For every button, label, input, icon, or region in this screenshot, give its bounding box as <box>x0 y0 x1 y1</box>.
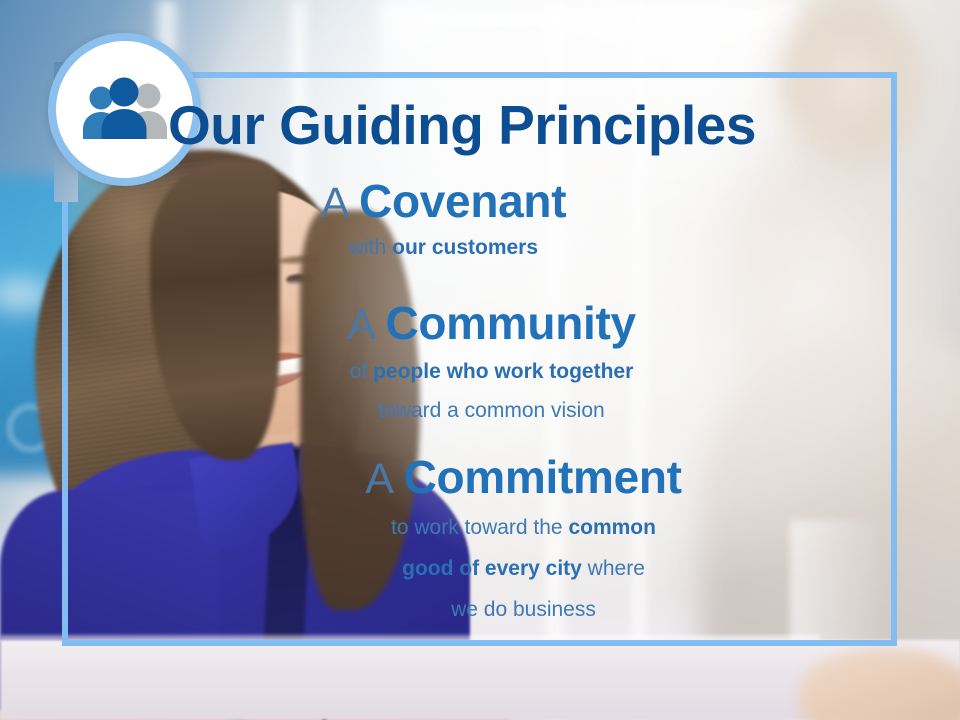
people-group-icon <box>75 77 175 143</box>
people-badge <box>48 33 201 186</box>
sales-associate-photo: FLOW AUTOMOTIVE FLOW <box>0 150 520 720</box>
table-edge-highlight <box>0 636 820 644</box>
window-mullion <box>628 0 650 720</box>
blurred-customer-hand <box>800 648 960 720</box>
banner-stage: FLOW AUTOMOTIVE FLOW Our Guiding Pr <box>0 0 960 720</box>
window-mullion <box>540 0 570 720</box>
